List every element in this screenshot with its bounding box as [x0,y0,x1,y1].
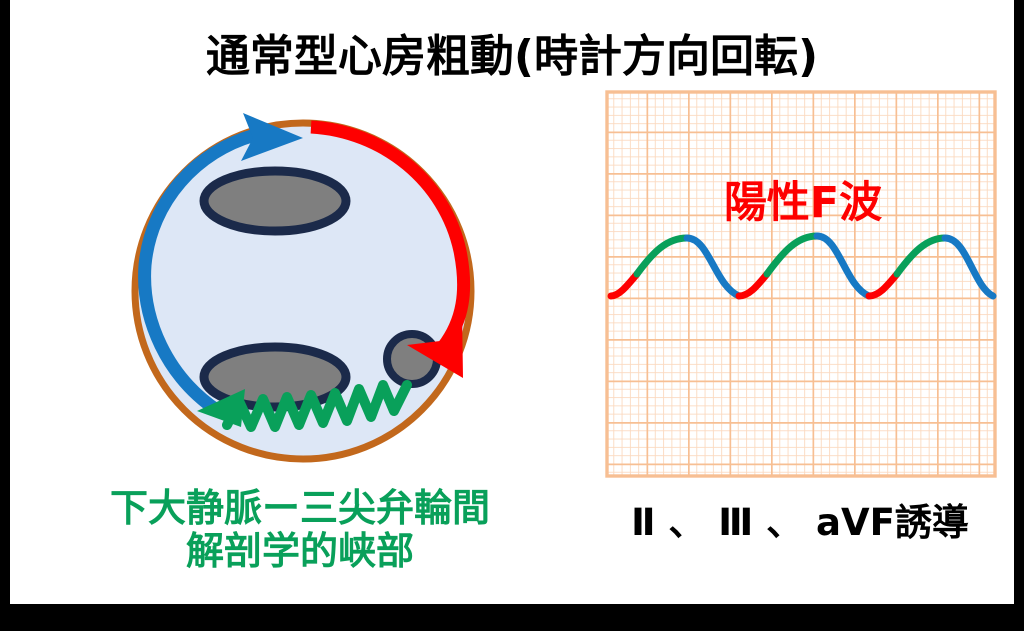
superior-vena-cava-ostium-icon [204,171,346,231]
letterbox-left [0,0,10,604]
isthmus-caption-line2: 解剖学的峡部 [20,530,580,573]
page-title: 通常型心房粗動(時計方向回転) [10,20,1014,84]
slide-canvas: 通常型心房粗動(時計方向回転) [0,0,1024,631]
coronary-sinus-ostium-icon [387,334,437,384]
atrium-svg [115,105,505,480]
ecg-wave-label: 陽性F波 [724,178,882,228]
ecg-strip: 陽性F波 [605,90,1001,480]
isthmus-caption: 下大静脈ー三尖弁輪間 解剖学的峡部 [20,487,580,572]
slide-content: 通常型心房粗動(時計方向回転) [10,0,1014,604]
ecg-grid-background [607,92,995,476]
isthmus-caption-line1: 下大静脈ー三尖弁輪間 [110,486,490,530]
letterbox-bottom [0,604,1024,631]
atrium-diagram [115,105,505,480]
tricuspid-annulus-ostium-icon [204,347,346,407]
leads-caption: Ⅱ 、 Ⅲ 、 aVF誘導 [580,492,1014,546]
letterbox-right [1014,0,1024,604]
ecg-svg: 陽性F波 [605,90,1001,480]
